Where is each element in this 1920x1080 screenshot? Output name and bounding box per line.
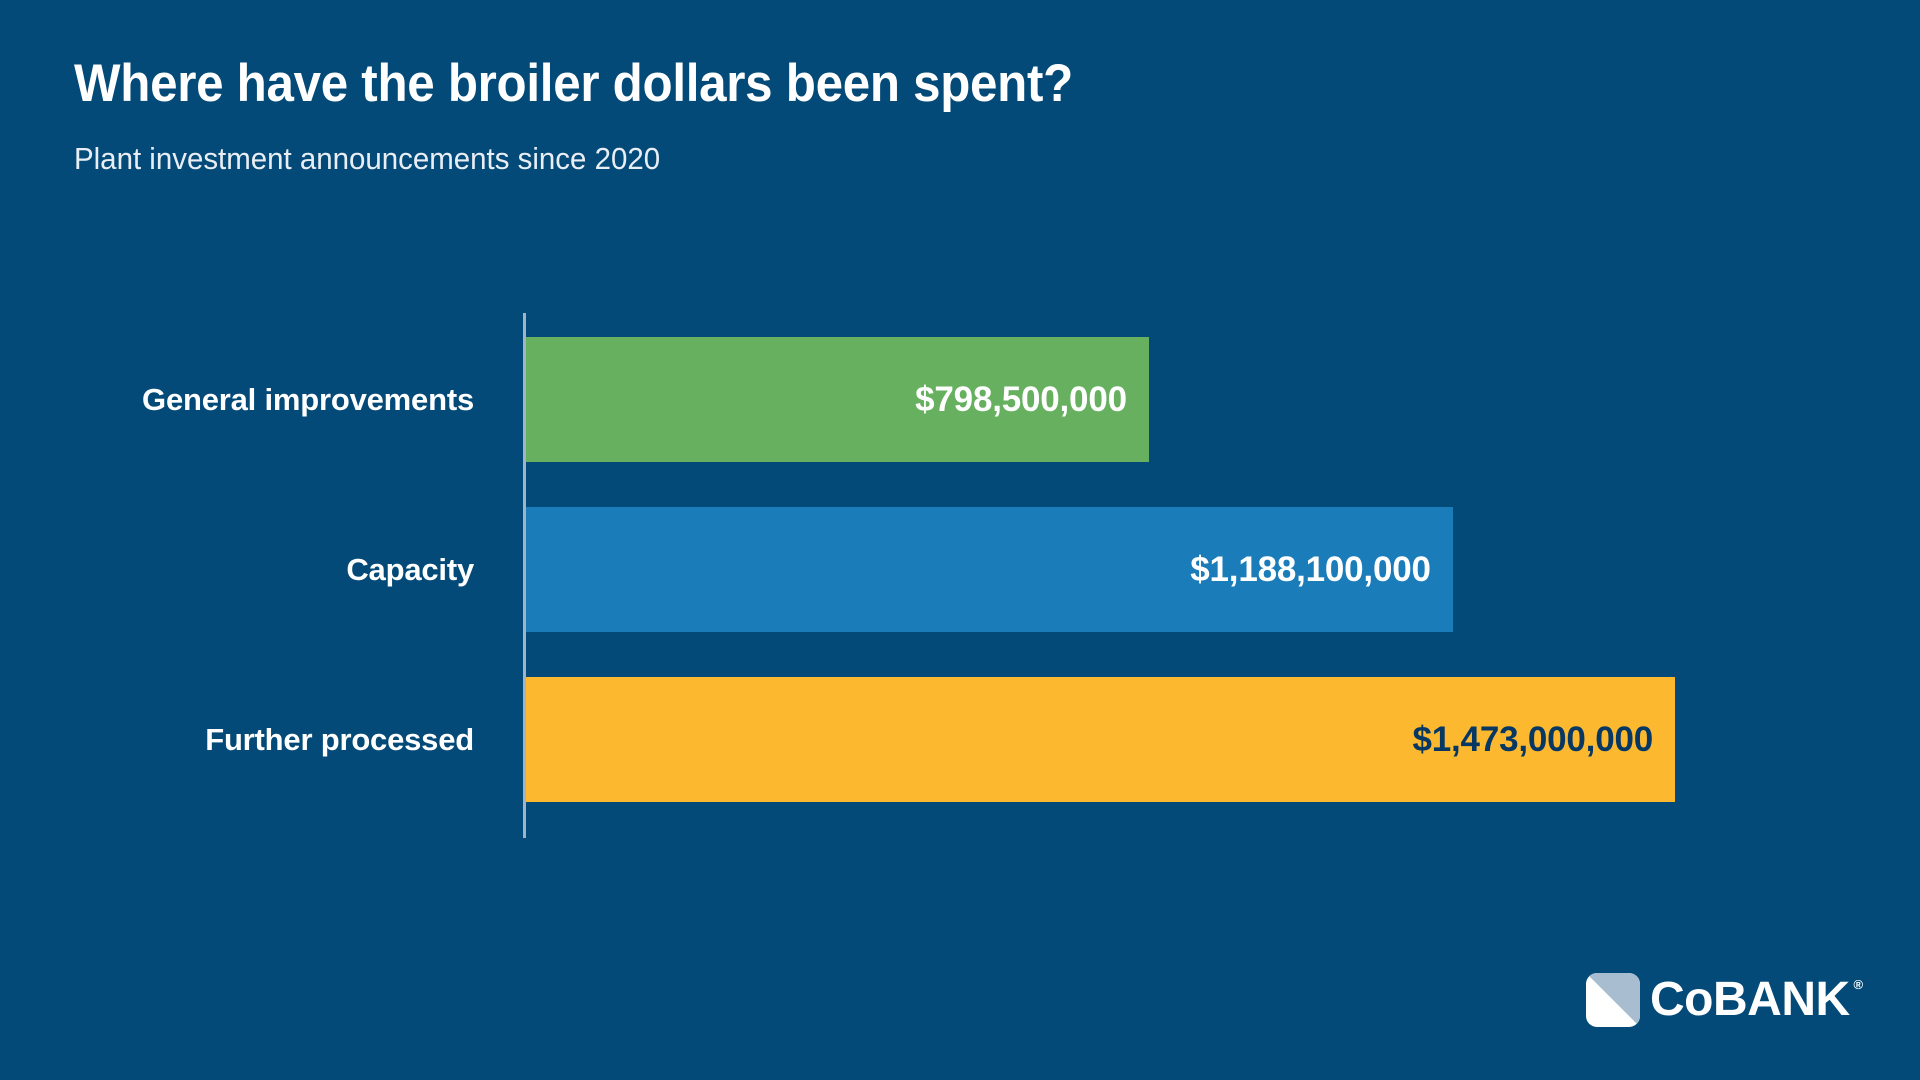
bar-value-label: $798,500,000: [915, 380, 1127, 420]
cobank-wordmark: CoBANK ®: [1650, 976, 1850, 1024]
header: Where have the broiler dollars been spen…: [74, 56, 1774, 176]
chart-subtitle: Plant investment announcements since 202…: [74, 112, 1689, 176]
cobank-logo: CoBANK ®: [1586, 969, 1830, 1031]
bar-capacity: $1,188,100,000: [526, 507, 1453, 632]
category-label-general-improvements: General improvements: [0, 337, 500, 462]
registered-trademark-icon: ®: [1854, 978, 1863, 991]
page-title: Where have the broiler dollars been spen…: [74, 56, 1655, 112]
cobank-logo-mark-icon: [1586, 973, 1640, 1027]
chart-slide: Where have the broiler dollars been spen…: [0, 0, 1920, 1080]
category-label-capacity: Capacity: [0, 507, 500, 632]
bar-value-label: $1,188,100,000: [1190, 550, 1431, 590]
bar-general-improvements: $798,500,000: [526, 337, 1149, 462]
bar-row: Further processed $1,473,000,000: [0, 677, 1920, 802]
bar-value-label: $1,473,000,000: [1413, 720, 1654, 760]
category-label-further-processed: Further processed: [0, 677, 500, 802]
bar-chart-plot-area: General improvements $798,500,000 Capaci…: [0, 313, 1920, 838]
bar-row: General improvements $798,500,000: [0, 337, 1920, 462]
bar-row: Capacity $1,188,100,000: [0, 507, 1920, 632]
cobank-wordmark-text: CoBANK: [1650, 973, 1850, 1026]
bar-further-processed: $1,473,000,000: [526, 677, 1675, 802]
